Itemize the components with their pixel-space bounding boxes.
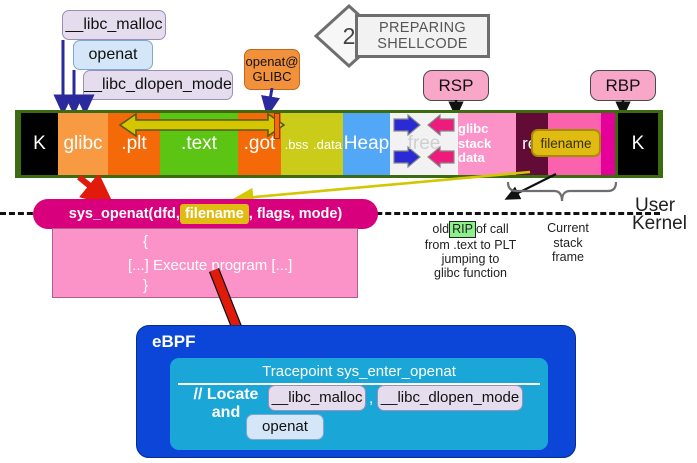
rip-badge-text: RIP xyxy=(452,222,473,236)
kernel-label: Kernel xyxy=(632,213,687,235)
ebpf-title: eBPF xyxy=(152,332,195,352)
register-label: RSP xyxy=(439,76,474,96)
frame-note-line3: frame xyxy=(552,250,584,264)
register-rsp[interactable]: RSP xyxy=(423,70,489,101)
memory-segment-label: free xyxy=(390,113,458,175)
current-stack-frame-annotation: Current stack frame xyxy=(528,217,608,269)
rip-note-line4: glibc function xyxy=(434,266,507,280)
memory-segment-label: .bss xyxy=(285,137,309,152)
got-entry-line2: GLIBC xyxy=(252,70,291,85)
ebpf-symbol-libc-dlopen-mode[interactable]: __libc_dlopen_mode xyxy=(377,385,523,411)
filename-badge-stack[interactable]: filename xyxy=(531,129,601,157)
memory-segment-heap[interactable]: Heap xyxy=(343,113,390,175)
step-label-line1: PREPARING xyxy=(379,20,466,36)
syscall-signature-post: , flags, mode) xyxy=(249,206,342,222)
memory-segment-label: .data xyxy=(313,137,342,152)
memory-segment-free[interactable]: free xyxy=(390,113,458,175)
register-label: RBP xyxy=(606,76,641,96)
ebpf-tracepoint-title: Tracepoint sys_enter_openat xyxy=(170,360,548,382)
filename-badge-text: filename xyxy=(185,206,244,222)
got-entry-label[interactable]: openat@ GLIBC xyxy=(244,49,300,90)
memory-segment-stack-magenta[interactable] xyxy=(601,113,615,175)
filename-badge-text: filename xyxy=(540,136,591,151)
ebpf-symbol-openat[interactable]: openat xyxy=(246,414,324,440)
step-label-box: PREPARING SHELLCODE xyxy=(355,14,490,58)
syscall-brace-close: } xyxy=(143,277,148,294)
step-label-line2: SHELLCODE xyxy=(377,36,468,52)
memory-segment-glibc[interactable]: glibc xyxy=(58,113,108,175)
rip-note-pre: old xyxy=(432,222,449,236)
memory-segment-kernel-high[interactable]: K xyxy=(618,113,658,175)
ebpf-symbol-libc-malloc[interactable]: __libc_malloc xyxy=(268,385,366,411)
current-stack-frame-brace xyxy=(505,180,617,206)
filename-badge-syscall[interactable]: filename xyxy=(180,204,249,224)
ebpf-comment-line1: // Locate xyxy=(190,386,262,404)
ebpf-symbol-text: __libc_malloc xyxy=(272,390,363,406)
rip-note-line3: jumping to xyxy=(442,252,500,266)
ebpf-symbol-text: openat xyxy=(262,419,308,435)
ebpf-symbol-text: __libc_dlopen_mode xyxy=(381,390,519,406)
memory-segment-label: K xyxy=(632,133,645,155)
got-entry-marker xyxy=(274,113,280,139)
register-rbp[interactable]: RBP xyxy=(590,70,656,101)
frame-note-line1: Current xyxy=(547,221,589,235)
memory-segment-label: glibc xyxy=(63,133,102,155)
memory-segment-label: Heap xyxy=(344,133,389,155)
syscall-signature-pre: sys_openat(dfd, xyxy=(69,206,180,222)
rip-badge: RIP xyxy=(449,221,476,237)
syscall-signature-pill[interactable]: sys_openat(dfd, filename , flags, mode) xyxy=(33,199,378,229)
symbol-arrows xyxy=(52,24,112,114)
memory-segment-label: K xyxy=(33,133,46,155)
got-entry-line1: openat@ xyxy=(246,55,299,70)
memory-segment-glibc-stack-data[interactable]: glibc stack data xyxy=(458,113,516,175)
memory-segment-data[interactable]: .data xyxy=(312,113,343,175)
plt-got-resolution-arrow xyxy=(118,111,286,143)
ebpf-symbol-separator: , xyxy=(369,390,373,407)
frame-note-line2: stack xyxy=(553,236,582,250)
syscall-brace-open: { xyxy=(143,233,148,250)
memory-segment-label: glibc stack data xyxy=(458,122,516,166)
rip-note-post: of call xyxy=(476,222,509,236)
memory-segment-kernel-low[interactable]: K xyxy=(21,113,58,175)
rip-note-line2: from .text to PLT xyxy=(425,238,516,252)
